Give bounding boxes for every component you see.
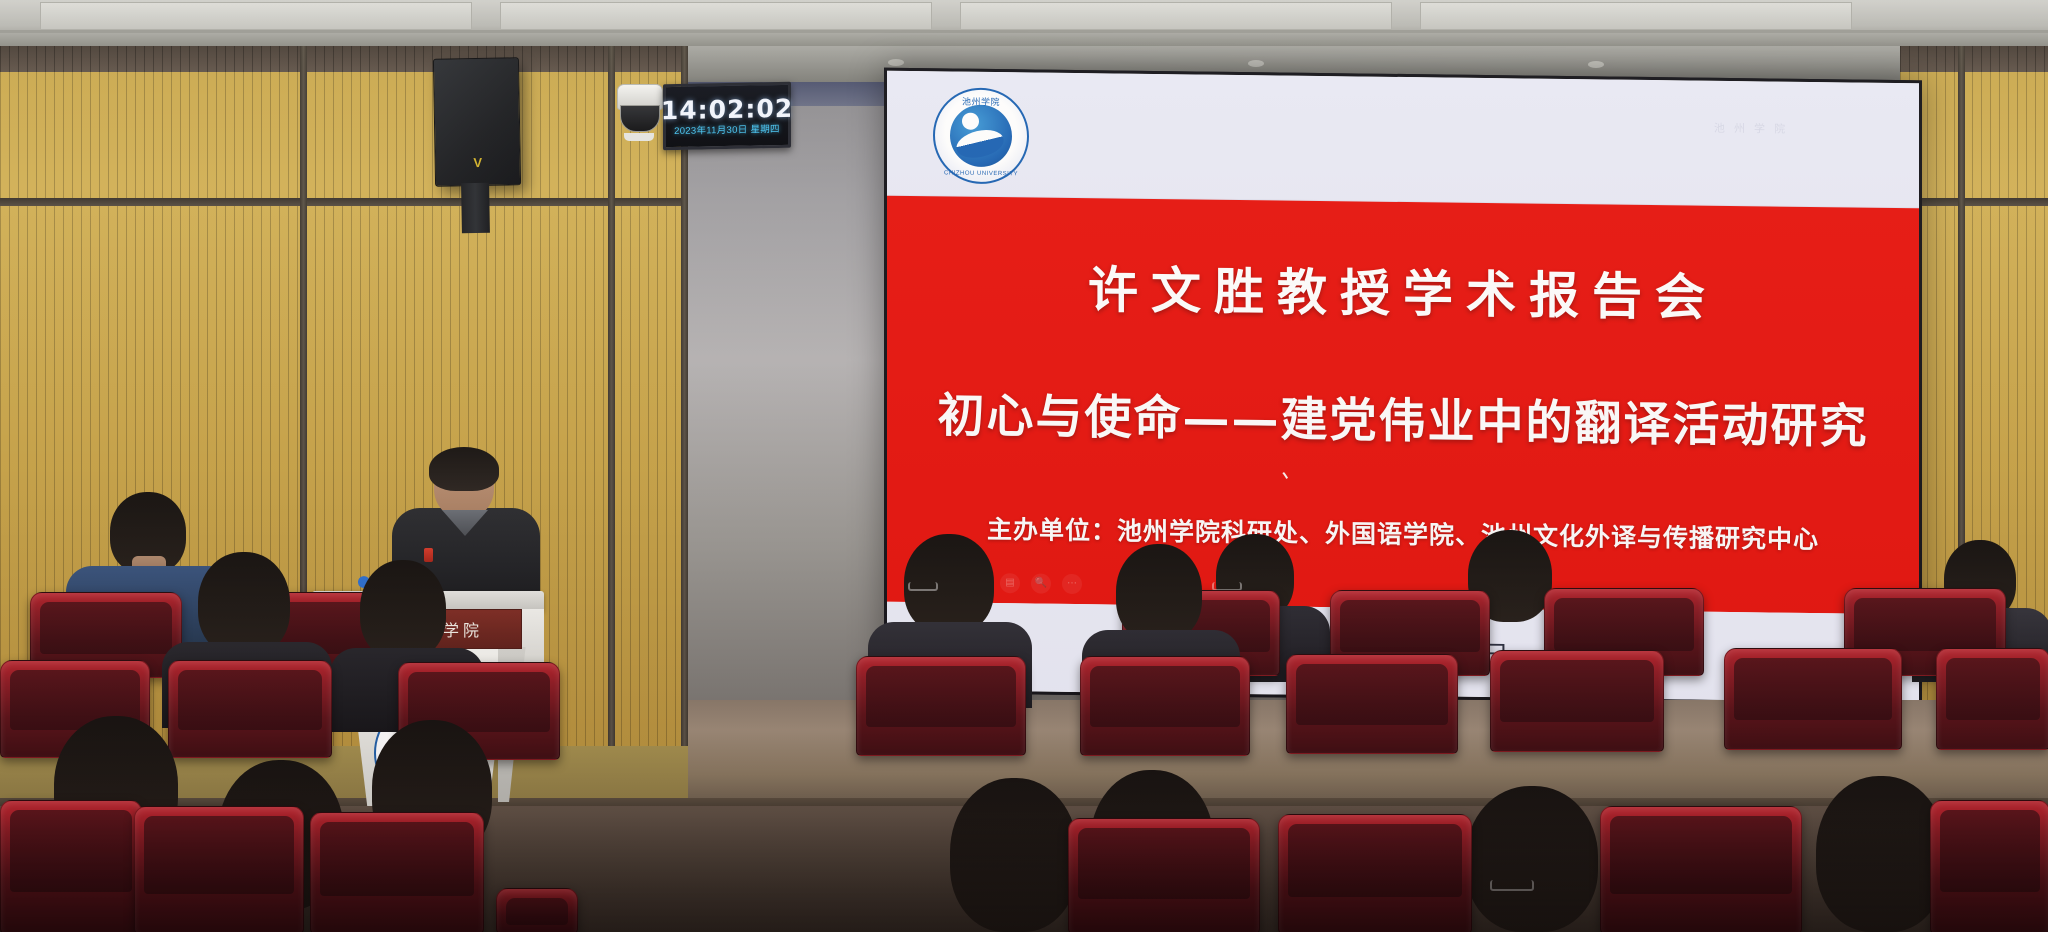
seat: [1278, 814, 1472, 932]
slide-organizers: 主办单位：池州学院科研处、外国语学院、池州文化外译与传播研究中心: [987, 510, 1819, 556]
seat: [1724, 648, 1902, 750]
logo-arc-top-label: 池州学院: [935, 94, 1027, 108]
slide-body: 许文胜教授学术报告会 初心与使命——建党伟业中的翻译活动研究 、 主办单位：池州…: [887, 196, 1919, 615]
wall-mounted-loudspeaker: V: [433, 57, 521, 186]
logo-arc-bottom-label: CHIZHOU UNIVERSITY: [935, 170, 1027, 177]
lecture-hall-scene: V 14:02:02 2023年11月30日 星期四 池州学院 CHIZHOU …: [0, 0, 2048, 932]
slide-cursor-mark: 、: [1279, 452, 1306, 488]
ceiling: [0, 0, 2048, 46]
led-wall-clock: 14:02:02 2023年11月30日 星期四: [663, 82, 791, 150]
lapel-badge: [424, 548, 433, 562]
seat: [856, 656, 1026, 756]
audience-glasses-icon: [1490, 880, 1534, 891]
seat: [134, 806, 304, 932]
slide-header-band: 池州学院 CHIZHOU UNIVERSITY 池 州 学 院: [887, 71, 1919, 209]
speaker-brand-logo: V: [473, 156, 482, 169]
audience-glasses-icon: [908, 582, 938, 591]
security-camera: [617, 84, 661, 136]
chizhou-university-logo-icon: 池州学院 CHIZHOU UNIVERSITY: [933, 87, 1029, 184]
audience-head: [1116, 544, 1202, 642]
seat: [1068, 818, 1260, 932]
seat: [168, 660, 332, 758]
audience-head: [1816, 776, 1946, 932]
seat: [1936, 648, 2048, 750]
seat: [496, 888, 578, 932]
all-slides-button[interactable]: ▤: [1000, 573, 1020, 593]
slide-title: 许文胜教授学术报告会: [1088, 250, 1718, 330]
audience-head: [360, 560, 446, 660]
seat: [1600, 806, 1802, 932]
seat: [1490, 650, 1664, 752]
seat: [1080, 656, 1250, 756]
seat: [1286, 654, 1458, 754]
zoom-button[interactable]: 🔍: [1031, 573, 1051, 593]
seat: [310, 812, 484, 932]
seat: [1930, 800, 2048, 932]
slide-watermark-text: 池 州 学 院: [1641, 120, 1861, 139]
audience-head: [1466, 786, 1598, 932]
seat: [0, 800, 142, 932]
clock-date: 2023年11月30日 星期四: [674, 125, 780, 137]
audience-head: [950, 778, 1078, 932]
clock-time: 14:02:02: [661, 95, 793, 123]
slide-subtitle: 初心与使命——建党伟业中的翻译活动研究: [938, 376, 1869, 456]
audience-head: [198, 552, 290, 656]
more-options-button[interactable]: ⋯: [1062, 574, 1082, 594]
